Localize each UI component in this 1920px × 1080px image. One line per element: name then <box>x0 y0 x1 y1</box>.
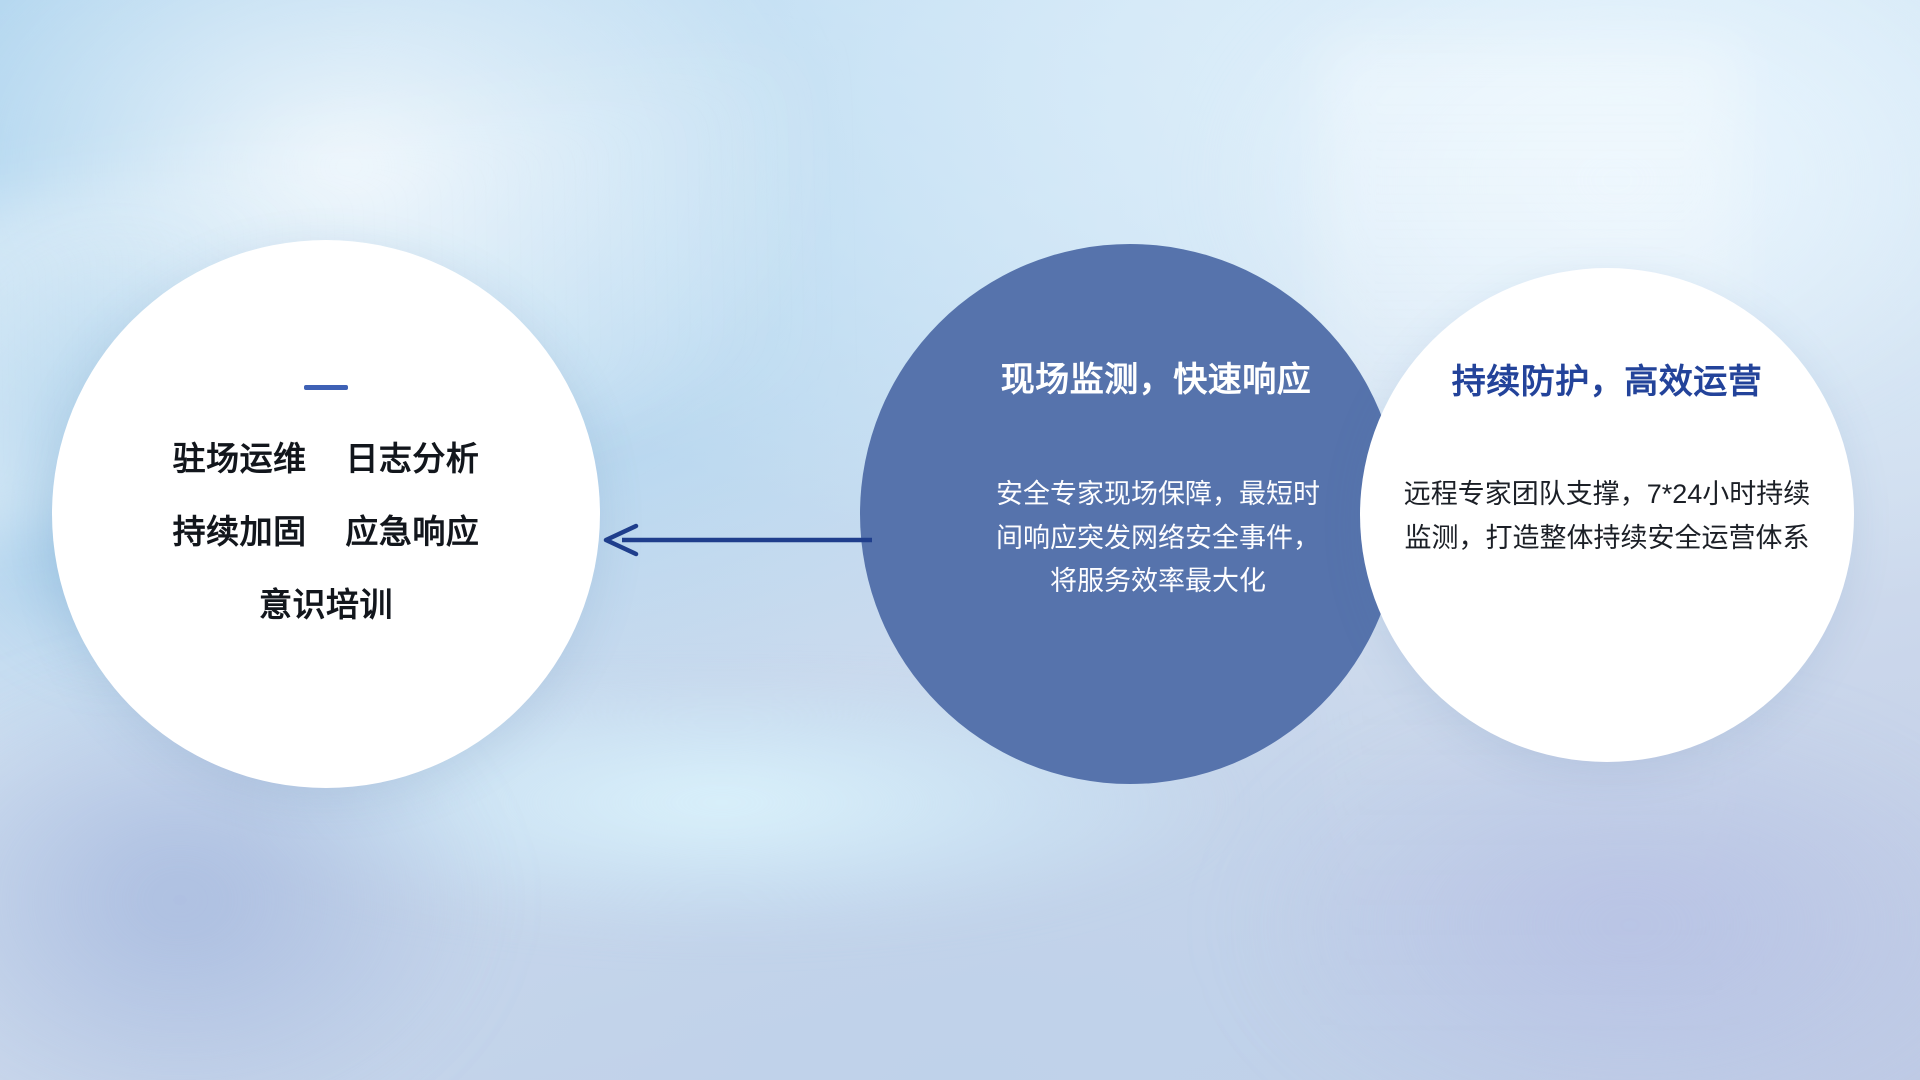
center-circle-content: 现场监测，快速响应 安全专家现场保障，最短时间响应突发网络安全事件，将服务效率最… <box>860 244 1400 784</box>
left-circle-content: 驻场运维 日志分析 持续加固 应急响应 意识培训 <box>52 240 600 788</box>
center-circle-title: 现场监测，快速响应 <box>1001 352 1312 401</box>
left-keyword-row-1: 驻场运维 日志分析 <box>173 442 480 475</box>
center-circle-body: 安全专家现场保障，最短时间响应突发网络安全事件，将服务效率最大化 <box>993 473 1323 604</box>
left-keyword-row-3: 意识培训 <box>259 588 393 621</box>
right-circle-body: 远程专家团队支撑，7*24小时持续监测，打造整体持续安全运营体系 <box>1392 473 1822 560</box>
left-keyword-row-2: 持续加固 应急响应 <box>173 515 480 548</box>
diagram-canvas: 驻场运维 日志分析 持续加固 应急响应 意识培训 现场监测，快速响应 安全专家现… <box>0 0 1920 1080</box>
right-circle-content: 持续防护，高效运营 远程专家团队支撑，7*24小时持续监测，打造整体持续安全运营… <box>1360 268 1854 762</box>
arrow-left-icon <box>596 516 876 564</box>
right-circle-title: 持续防护，高效运营 <box>1452 354 1763 403</box>
short-dash-divider-icon <box>304 385 348 390</box>
